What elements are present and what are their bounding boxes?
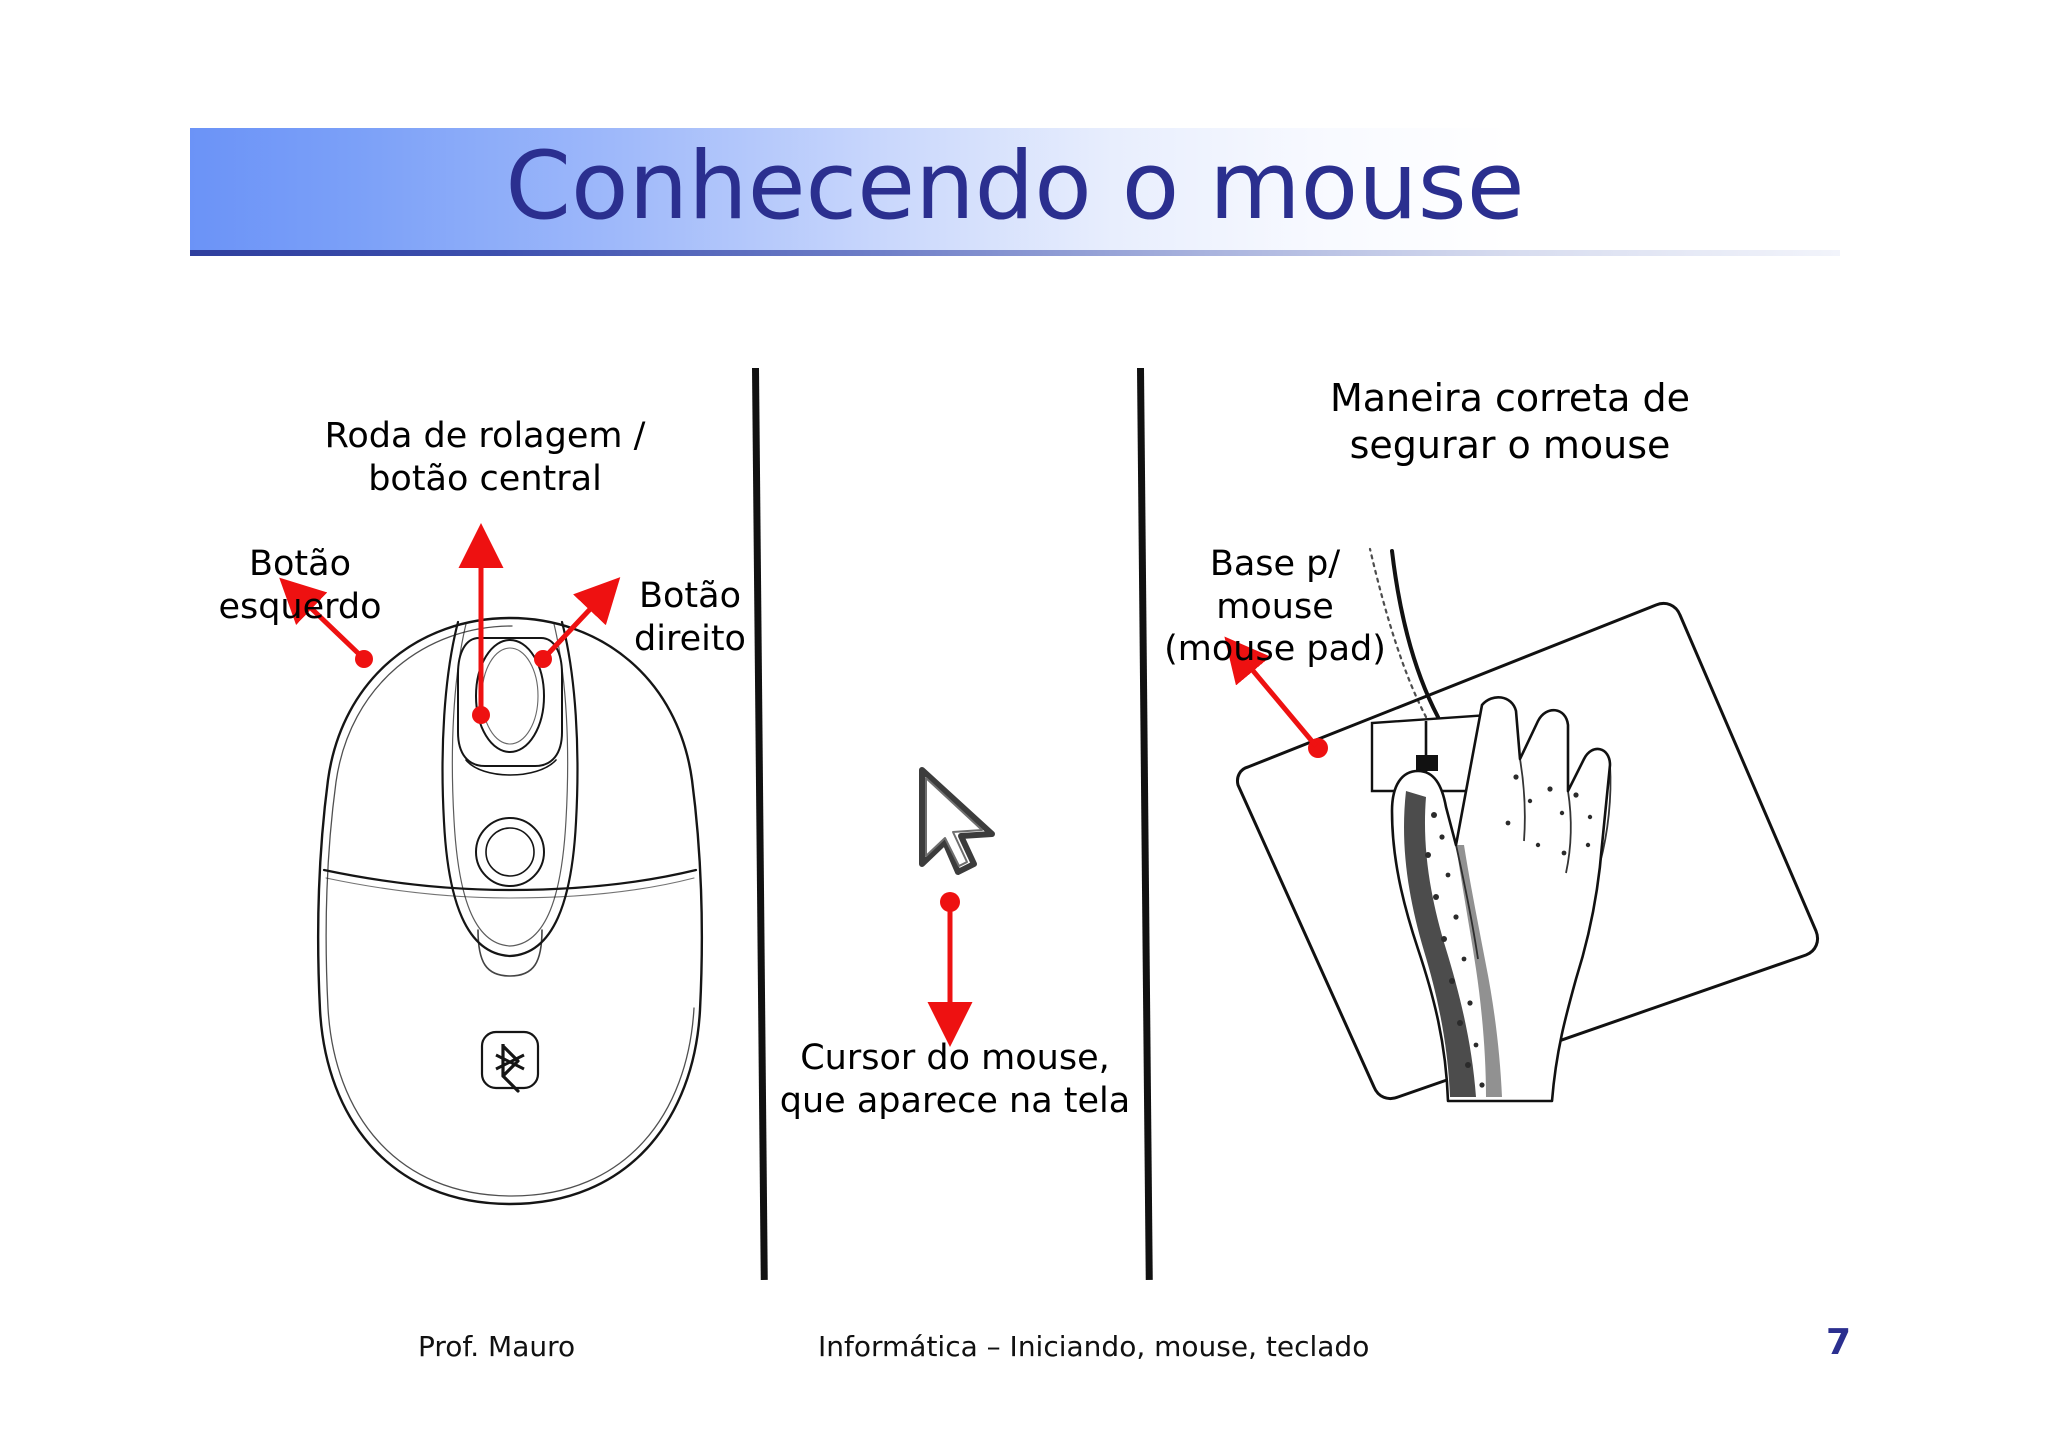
hand-stipple-shading: [1404, 774, 1592, 1097]
column-divider-left: [752, 368, 768, 1280]
page-title: Conhecendo o mouse: [190, 126, 1840, 248]
hand-shape: [1392, 697, 1611, 1101]
dot-cursor-anchor: [940, 892, 960, 912]
mouse-top-view-illustration: [280, 600, 740, 1240]
footer-author: Prof. Mauro: [418, 1330, 575, 1363]
mouse-pointer-cursor-icon: [900, 760, 1020, 900]
label-mouse-pad: Base p/ mouse (mouse pad): [1140, 543, 1410, 671]
title-underline-rule: [190, 250, 1840, 256]
dot-scroll-wheel: [472, 706, 490, 724]
footer-subject: Informática – Iniciando, mouse, teclado: [818, 1330, 1369, 1363]
right-column-heading: Maneira correta de segurar o mouse: [1270, 375, 1750, 469]
bluetooth-badge-icon: [482, 1032, 538, 1091]
arrow-to-cursor: [920, 890, 980, 1050]
label-left-button: Botão esquerdo: [170, 543, 430, 628]
label-scroll-wheel: Roda de rolagem / botão central: [300, 415, 670, 500]
label-right-button: Botão direito: [580, 575, 800, 660]
mouse-under-hand: [1372, 715, 1488, 791]
dot-mouse-pad-anchor: [1308, 738, 1328, 758]
column-divider-right: [1137, 368, 1153, 1280]
mouse-pad-shape: [1237, 603, 1817, 1098]
footer-page-number: 7: [1826, 1322, 1851, 1363]
label-cursor: Cursor do mouse, que aparece na tela: [775, 1037, 1135, 1122]
